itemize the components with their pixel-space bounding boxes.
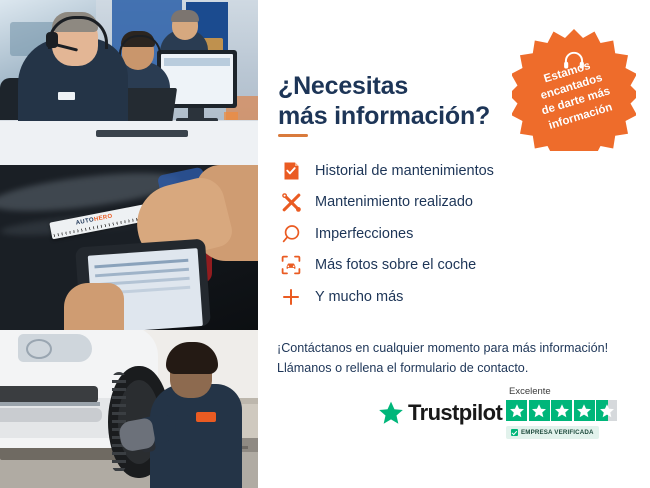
verified-check-icon	[511, 429, 518, 436]
page-title: ¿Necesitas más información?	[278, 71, 528, 132]
star-2	[529, 400, 550, 421]
feature-item-mucho-mas: Y mucho más	[276, 281, 616, 313]
clipboard-check-icon	[276, 158, 306, 184]
star-1	[506, 400, 527, 421]
feature-item-historial: Historial de mantenimientos	[276, 155, 616, 187]
contact-paragraph: ¡Contáctanos en cualquier momento para m…	[277, 338, 627, 379]
feature-item-fotos: Más fotos sobre el coche	[276, 250, 616, 282]
agent-3-hair	[171, 10, 199, 22]
mechanic-wheel-photo	[0, 330, 258, 488]
inspector-hand-2	[64, 283, 124, 330]
car-inspection-ruler-photo: AUTOHERO	[0, 165, 258, 330]
front-bumper	[0, 408, 102, 422]
call-center-agents-photo	[0, 0, 258, 165]
contact-line-2: Llámanos o rellena el formulario de cont…	[277, 361, 528, 375]
verified-company-badge: EMPRESA VERIFICADA	[506, 426, 599, 439]
verified-label: EMPRESA VERIFICADA	[521, 429, 594, 436]
feature-item-mantenimiento: Mantenimiento realizado	[276, 187, 616, 219]
star-5-partial	[596, 400, 617, 421]
support-badge: Estamos encantados de darte más informac…	[512, 27, 636, 151]
front-grille	[0, 386, 98, 403]
car-focus-frame-icon	[276, 252, 306, 278]
trustpilot-logo[interactable]: Trustpilot	[378, 400, 502, 426]
title-divider	[278, 134, 308, 137]
trustpilot-star-icon	[378, 400, 404, 426]
mechanic-hair	[166, 342, 218, 374]
star-4	[574, 400, 595, 421]
ruler-brand-auto: AUTO	[75, 217, 94, 226]
feature-label: Y mucho más	[306, 289, 403, 305]
feature-label: Mantenimiento realizado	[306, 194, 473, 210]
tools-cross-icon	[276, 189, 306, 215]
name-badge	[58, 92, 75, 100]
desk-surface	[0, 121, 258, 165]
chrome-trim	[0, 402, 100, 406]
feature-label: Más fotos sobre el coche	[306, 257, 476, 273]
trustpilot-widget[interactable]: Trustpilot Excelente	[378, 386, 638, 448]
page-title-line-1: ¿Necesitas	[278, 72, 408, 100]
ruler-brand-hero: HERO	[94, 214, 114, 224]
trustpilot-rating-label: Excelente	[509, 386, 551, 397]
feature-item-imperfecciones: Imperfecciones	[276, 218, 616, 250]
laptop-base	[96, 130, 188, 137]
info-banner: AUTOHERO	[0, 0, 650, 488]
page-title-line-2: más información?	[278, 102, 490, 130]
contact-line-1: ¡Contáctanos en cualquier momento para m…	[277, 341, 608, 355]
feature-label: Imperfecciones	[306, 226, 413, 242]
plus-icon	[276, 284, 306, 310]
trustpilot-stars	[506, 400, 617, 421]
photo-collage: AUTOHERO	[0, 0, 258, 488]
star-3	[551, 400, 572, 421]
feature-list: Historial de mantenimientos Mantenimient…	[276, 155, 616, 313]
magnifier-icon	[276, 221, 306, 247]
content-panel: ¿Necesitas más información? Estamos enca…	[258, 0, 650, 488]
feature-label: Historial de mantenimientos	[306, 163, 494, 179]
trustpilot-wordmark: Trustpilot	[408, 400, 502, 426]
mechanic-logo-badge	[196, 412, 216, 422]
headlight	[18, 334, 92, 362]
